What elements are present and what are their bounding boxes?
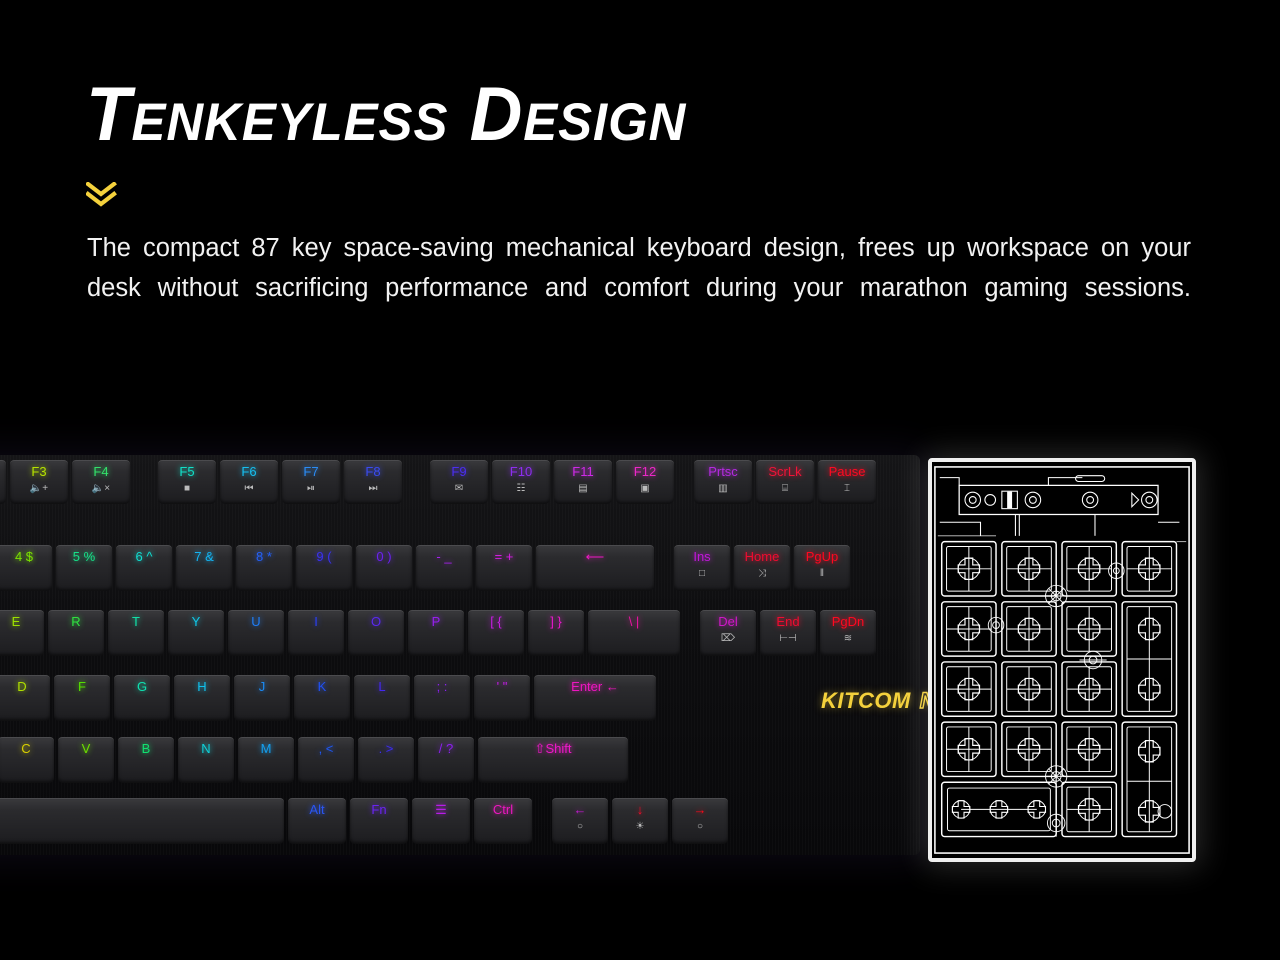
key-del[interactable]: Del⌦ [700,610,756,656]
key-legend: K [318,680,327,694]
key-legend: \ | [629,615,640,629]
keyboard-home-row: SDFGHJKL; :' "Enter ← [0,675,660,721]
key-legend: F [78,680,86,694]
key-[interactable]: ] } [528,610,584,656]
key-legend: L [378,680,385,694]
key-legend: ⇧Shift [535,742,572,756]
key-5[interactable]: 5 % [56,545,112,591]
key-j[interactable]: J [234,675,290,721]
key-legend: Enter ← [571,680,619,694]
key-y[interactable]: Y [168,610,224,656]
key-[interactable]: ; : [414,675,470,721]
feature-description: The compact 87 key space-saving mechanic… [87,228,1191,348]
key-b[interactable]: B [118,737,174,783]
mail-icon: ✉ [455,483,463,494]
key-f6[interactable]: F6⏮ [220,460,278,504]
brand-name: KITCOM [821,688,911,714]
key-legend: Prtsc [708,465,738,479]
key-legend: G [137,680,147,694]
key-legend: U [251,615,260,629]
eq-icon: ‖ [820,568,824,579]
key-f10[interactable]: F10☷ [492,460,550,504]
play-pause-icon: ⏯ [307,483,315,494]
key-cluster-gap [406,460,430,504]
key-legend: Ins [693,550,710,564]
key-legend: 9 ( [316,550,331,564]
key-legend: Alt [309,803,324,817]
key-f4[interactable]: F4🔈× [72,460,130,504]
key-e[interactable]: E [0,610,44,656]
key-legend: F4 [93,465,108,479]
stop-icon: ■ [184,483,190,494]
key-legend: T [132,615,140,629]
prev-track-icon: ⏮ [245,483,254,494]
volume-up-icon: 🔈+ [30,483,48,494]
key-legend: Y [192,615,201,629]
key-legend: M [261,742,272,756]
spacebar[interactable] [0,798,284,844]
key-legend: 6 ^ [136,550,153,564]
key-legend: I [314,615,318,629]
key-legend: Fn [371,803,386,817]
keyboard-qwerty-row: WERTYUIOP[ {] }\ |Del⌦End⊢⊣PgDn≋ [0,610,880,656]
key-pause[interactable]: Pause⌶ [818,460,876,504]
key-cluster-gap [134,460,158,504]
key-legend: ScrLk [768,465,801,479]
key-home[interactable]: Home⤨ [734,545,790,591]
key-legend: = + [495,550,514,564]
key-legend: ↓ [637,803,644,817]
key-legend: End [776,615,799,629]
key-legend: 5 % [73,550,95,564]
key-legend: P [432,615,441,629]
key-ctrl[interactable]: Ctrl [474,798,532,844]
key-legend: ← [574,803,587,817]
key-legend: D [17,680,26,694]
key-legend: - _ [436,550,451,564]
key-legend: 0 ) [376,550,391,564]
scroll-lock-icon: ⌸ [782,483,788,494]
key-legend: C [21,742,30,756]
key-o[interactable]: O [348,610,404,656]
key-legend: F6 [241,465,256,479]
media-icon: ▣ [640,483,649,494]
key-legend: 4 $ [15,550,33,564]
key-menu-icon[interactable]: ☰ [412,798,470,844]
key-legend: . > [379,742,394,756]
key-[interactable]: = + [476,545,532,591]
shuffle-icon: ⤨ [758,568,766,579]
key-legend: R [71,615,80,629]
mute-icon: 🔈× [92,483,110,494]
key-ins[interactable]: Ins□ [674,545,730,591]
key-6[interactable]: 6 ^ [116,545,172,591]
key-legend: ' " [497,680,508,694]
key-legend: H [197,680,206,694]
key-pgup[interactable]: PgUp‖ [794,545,850,591]
key-scrlk[interactable]: ScrLk⌸ [756,460,814,504]
key-8[interactable]: 8 * [236,545,292,591]
key-7[interactable]: 7 & [176,545,232,591]
key-legend: [ { [490,615,502,629]
key-end[interactable]: End⊢⊣ [760,610,816,656]
next-track-icon: ⏭ [369,483,378,494]
keyboard-bottom-row: AltAltFn☰Ctrl←○↓☀→○ [0,798,732,844]
key-f8[interactable]: F8⏭ [344,460,402,504]
fn-dial-icon: ○ [697,821,703,832]
key-[interactable]: - _ [416,545,472,591]
key-cluster-gap [678,460,694,504]
print-screen-icon: ▥ [718,483,727,494]
key-prtsc[interactable]: Prtsc▥ [694,460,752,504]
key-[interactable]: , < [298,737,354,783]
key-backspace-arrow-icon[interactable]: ⟵ [536,545,654,591]
double-chevron-down-icon [86,182,120,208]
key-cluster-gap [536,798,552,844]
key-[interactable]: . > [358,737,414,783]
key-f2[interactable]: F2🔈− [0,460,6,504]
key-v[interactable]: V [58,737,114,783]
keyboard-number-row: 3 #4 $5 %6 ^7 &8 *9 (0 )- _= +⟵Ins□Home⤨… [0,545,854,591]
pause-break-icon: ⌶ [844,483,850,494]
keyboard-function-row: F2🔈−F3🔈+F4🔈×F5■F6⏮F7⏯F8⏭F9✉F10☷F11▤F12▣P… [0,460,880,504]
key-f12[interactable]: F12▣ [616,460,674,504]
key-legend: Ctrl [493,803,513,817]
key-legend: V [82,742,91,756]
key-legend: F11 [572,465,593,479]
key-n[interactable]: N [178,737,234,783]
key-legend: F12 [634,465,656,479]
key-legend: PgDn [832,615,865,629]
key-legend: ⟵ [586,550,605,564]
key-legend: E [12,615,21,629]
product-feature-slide: Tenkeyless Design The compact 87 key spa… [0,0,1280,960]
key-legend: Pause [829,465,866,479]
key-shift[interactable]: ⇧Shift [478,737,628,783]
key-f3[interactable]: F3🔈+ [10,460,68,504]
key-p[interactable]: P [408,610,464,656]
key-enter[interactable]: Enter ← [534,675,656,721]
key-legend: ; : [437,680,448,694]
page-title: Tenkeyless Design [86,74,686,156]
key-0[interactable]: 0 ) [356,545,412,591]
key-pgdn[interactable]: PgDn≋ [820,610,876,656]
key-m[interactable]: M [238,737,294,783]
key-g[interactable]: G [114,675,170,721]
key-legend: N [201,742,210,756]
key-4[interactable]: 4 $ [0,545,52,591]
key-f[interactable]: F [54,675,110,721]
key-f11[interactable]: F11▤ [554,460,612,504]
insert-icon: □ [699,568,705,579]
key-legend: ☰ [435,803,447,817]
key-t[interactable]: T [108,610,164,656]
key-alt[interactable]: Alt [288,798,346,844]
key-cluster-gap [684,610,700,656]
key-legend: O [371,615,381,629]
key-fn[interactable]: Fn [350,798,408,844]
key-legend: F7 [303,465,318,479]
key-legend: , < [319,742,334,756]
key-u[interactable]: U [228,610,284,656]
key-legend: ] } [550,615,562,629]
calculator-icon: ▤ [578,483,587,494]
end-marker-icon: ⊢⊣ [779,633,796,644]
key-right-arrow-icon[interactable]: →○ [672,798,728,844]
switch-plate-blueprint [928,458,1196,862]
key-legend: → [694,803,707,817]
key-legend: / ? [439,742,453,756]
key-f9[interactable]: F9✉ [430,460,488,504]
keyboard-shift-row: XCVBNM, <. >/ ?⇧Shift [0,737,632,783]
key-legend: F9 [451,465,466,479]
key-c[interactable]: C [0,737,54,783]
key-legend: 8 * [256,550,272,564]
wave-icon: ≋ [844,633,852,644]
key-legend: F8 [365,465,380,479]
key-legend: 7 & [194,550,214,564]
apps-grid-icon: ☷ [517,483,526,494]
key-legend: B [142,742,151,756]
key-legend: Home [745,550,780,564]
key-f5[interactable]: F5■ [158,460,216,504]
key-left-arrow-icon[interactable]: ←○ [552,798,608,844]
key-f7[interactable]: F7⏯ [282,460,340,504]
key-legend: F10 [510,465,532,479]
key-legend: Del [718,615,738,629]
key-9[interactable]: 9 ( [296,545,352,591]
key-h[interactable]: H [174,675,230,721]
key-legend: F5 [179,465,194,479]
backlight-icon: ☀ [636,821,645,832]
key-[interactable]: [ { [468,610,524,656]
keyboard-product-photo: F2🔈−F3🔈+F4🔈×F5■F6⏮F7⏯F8⏭F9✉F10☷F11▤F12▣P… [0,455,920,855]
key-[interactable]: ' " [474,675,530,721]
key-[interactable]: \ | [588,610,680,656]
del-icon: ⌦ [721,633,735,644]
key-legend: J [259,680,266,694]
key-[interactable]: / ? [418,737,474,783]
fn-dial-icon: ○ [577,821,583,832]
key-k[interactable]: K [294,675,350,721]
key-l[interactable]: L [354,675,410,721]
key-d[interactable]: D [0,675,50,721]
key-down-arrow-icon[interactable]: ↓☀ [612,798,668,844]
key-legend: PgUp [806,550,839,564]
key-legend: F3 [31,465,46,479]
key-i[interactable]: I [288,610,344,656]
key-cluster-gap [658,545,674,591]
key-r[interactable]: R [48,610,104,656]
